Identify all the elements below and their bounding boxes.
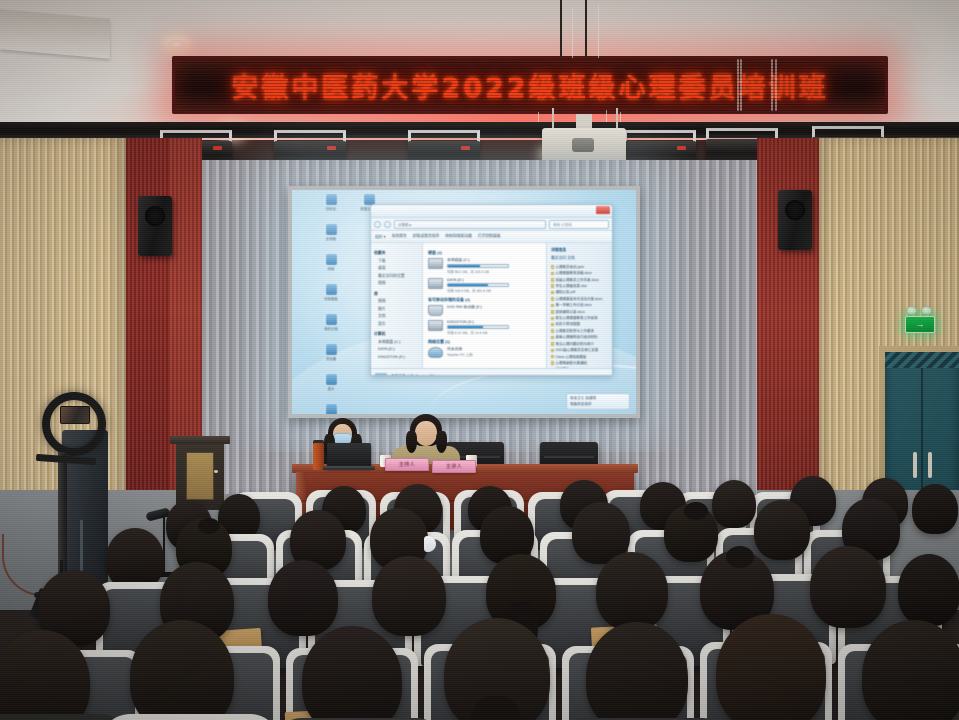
desktop-icon-column: 回收站 此电脑 网络 控制面板 我的文档	[296, 194, 366, 414]
pictures-icon	[326, 404, 337, 414]
name-placard-left-text: 主持人	[399, 461, 415, 468]
nav-item[interactable]: 文档	[374, 313, 420, 321]
audience-head	[106, 528, 164, 590]
toolbar-system-properties[interactable]: 系统属性	[392, 234, 407, 239]
audience-head	[716, 614, 826, 720]
presenter-right-face	[415, 421, 437, 446]
nav-item[interactable]: 视频	[374, 298, 420, 306]
toolbar-control-panel[interactable]: 打开控制面板	[478, 234, 501, 239]
music-icon	[326, 374, 337, 385]
desktop-widget[interactable]: 安全卫士 加速球 电脑状态良好	[566, 393, 630, 410]
explorer-body: 收藏夹 下载 桌面 最近访问的位置 视频 库 视频 图片 文档 音乐 计算机 本…	[371, 243, 612, 368]
ceiling-hang-wire	[598, 4, 599, 58]
audience-shoulders	[100, 714, 280, 720]
projector-lens	[572, 138, 594, 152]
audience-head	[268, 560, 338, 636]
drive-host: Teacher-PC 上的	[447, 352, 542, 357]
toolbar-map-drive[interactable]: 映射网络驱动器	[445, 234, 472, 239]
audience-head	[372, 556, 446, 636]
hair-bun	[726, 546, 754, 568]
toolbar-uninstall[interactable]: 卸载或更改程序	[413, 234, 440, 239]
projector-mount-rod	[616, 108, 618, 130]
desktop-icon[interactable]: 图片	[296, 404, 366, 414]
capacity-bar	[447, 264, 509, 268]
network-icon	[326, 254, 337, 265]
window-title-bar[interactable]	[371, 205, 612, 218]
ring-light	[42, 392, 106, 456]
led-banner: 安徽中医药大学2022级班级心理委员培训班	[172, 56, 888, 114]
capacity-bar	[447, 283, 509, 287]
wall-speaker-right	[778, 190, 812, 250]
exit-arrow-icon: →	[916, 320, 925, 329]
projector-mount-rod	[552, 108, 554, 130]
capacity-bar	[447, 325, 509, 329]
desktop-icon[interactable]: 我的文档	[296, 314, 366, 343]
projection-screen: 回收站 此电脑 网络 控制面板 我的文档	[292, 190, 636, 414]
nav-item[interactable]: 图片	[374, 306, 420, 314]
presenter-right-hair-strand	[436, 431, 447, 453]
presenter-right-hair-strand	[406, 431, 417, 453]
lecture-hall-photo: 安徽中医药大学2022级班级心理委员培训班	[0, 0, 959, 720]
nav-item[interactable]: 桌面	[374, 265, 420, 273]
nav-group-libraries[interactable]: 库	[374, 291, 420, 299]
control-panel-icon	[326, 284, 337, 295]
nav-item[interactable]: 下载	[374, 258, 420, 266]
drive-item[interactable]: 共享资源 Teacher-PC 上的	[428, 347, 542, 358]
drive-capacity: 可用 118.4 GB，共 351.6 GB	[447, 288, 542, 293]
group-header-removable[interactable]: 有可移动存储的设备 (2)	[428, 297, 542, 303]
status-line-1: 共享资源 上级: Teacher-PC	[391, 374, 435, 377]
network-share-icon	[428, 347, 443, 358]
drive-item[interactable]: DATA (D:) 可用 118.4 GB，共 351.6 GB	[428, 278, 542, 293]
details-pane: 详细信息 最近访问 文档 心理委员培训.pptx 心理健康教育讲稿.docx 班…	[546, 243, 612, 368]
ceiling-projector	[542, 128, 626, 164]
audience-head	[130, 620, 234, 720]
forward-icon[interactable]	[384, 221, 391, 228]
name-placard-right-text: 主讲人	[446, 463, 462, 470]
browser-icon	[326, 344, 337, 355]
exit-sign: →	[905, 316, 935, 333]
optical-drive-icon	[428, 305, 443, 316]
ceiling-hang-wire	[572, 8, 573, 58]
drive-name: 本地磁盘 (C:)	[447, 258, 542, 263]
nav-item[interactable]: 视频	[374, 280, 420, 288]
details-pane-header: 详细信息	[551, 247, 609, 253]
ceiling-hang-wire	[585, 0, 587, 58]
close-icon[interactable]	[596, 206, 610, 214]
banner-hanging-cables	[731, 59, 801, 114]
nav-item[interactable]: 本地磁盘 (C:)	[374, 339, 420, 347]
status-bar: 共享资源 上级: Teacher-PC 网络位置: Teacher-PC 共享	[371, 368, 612, 376]
recent-file[interactable]: 活动照片	[551, 366, 609, 368]
audience-head	[596, 552, 668, 630]
nav-group-favorites[interactable]: 收藏夹	[374, 250, 420, 258]
desktop-icon[interactable]: 此电脑	[296, 224, 366, 253]
drive-item[interactable]: 本地磁盘 (C:) 可用 56.2 GB，共 119.2 GB	[428, 258, 542, 274]
documents-icon	[326, 314, 337, 325]
group-header-harddisks[interactable]: 硬盘 (2)	[428, 250, 542, 256]
drive-item[interactable]: KINGSTON (K:) 可用 6.12 GB，共 14.4 GB	[428, 320, 542, 335]
nav-item[interactable]: 最近访问的位置	[374, 273, 420, 281]
emergency-lamp	[906, 306, 917, 315]
recycle-bin-icon	[326, 194, 337, 205]
desktop-icon[interactable]: 浏览器	[296, 344, 366, 373]
file-explorer-window[interactable]: 计算机 ▸ 搜索 计算机 组织 ▾ 系统属性 卸载或更改程序 映射网络驱动器 打…	[370, 204, 613, 376]
drive-item[interactable]: DVD RW 驱动器 (E:)	[428, 305, 542, 316]
audience-head	[712, 480, 756, 528]
wall-speaker-left	[138, 196, 172, 256]
hair-bun	[684, 502, 708, 520]
drive-capacity: 可用 56.2 GB，共 119.2 GB	[447, 269, 542, 274]
desktop-icon[interactable]: 音乐	[296, 374, 366, 403]
nav-item[interactable]: 音乐	[374, 321, 420, 329]
address-input[interactable]: 计算机 ▸	[394, 220, 546, 229]
address-bar-row: 计算机 ▸ 搜索 计算机	[371, 218, 612, 231]
hair-bun	[198, 518, 220, 534]
projection-screen-frame: 回收站 此电脑 网络 控制面板 我的文档	[288, 186, 640, 418]
lectern-top	[170, 436, 230, 444]
desktop-icon[interactable]: 控制面板	[296, 284, 366, 313]
explorer-toolbar: 组织 ▾ 系统属性 卸载或更改程序 映射网络驱动器 打开控制面板	[371, 231, 612, 243]
file-list-pane: 硬盘 (2) 本地磁盘 (C:) 可用 56.2 GB，共 119.2 GB	[423, 243, 546, 368]
mounted-phone[interactable]	[60, 406, 90, 424]
ceiling-light	[169, 40, 185, 49]
hard-drive-icon	[428, 278, 443, 289]
door-transom-grill	[885, 352, 959, 368]
laptop-screen	[327, 443, 371, 468]
audience-head	[810, 546, 886, 628]
toolbar-organize[interactable]: 组织 ▾	[375, 234, 386, 240]
audience-head	[898, 554, 959, 626]
group-header-network[interactable]: 网络位置 (1)	[428, 339, 542, 345]
drive-name: DATA (D:)	[447, 278, 542, 282]
navigation-pane: 收藏夹 下载 桌面 最近访问的位置 视频 库 视频 图片 文档 音乐 计算机 本…	[371, 243, 423, 368]
audience-head	[754, 500, 810, 560]
usb-drive-icon	[428, 320, 443, 331]
desktop-icon[interactable]: 网络	[296, 254, 366, 283]
nav-item[interactable]: KINGSTON (K:)	[374, 354, 420, 362]
audience-head	[912, 484, 958, 534]
search-input[interactable]: 搜索 计算机	[549, 220, 609, 229]
emergency-lamp	[921, 306, 932, 315]
computer-icon	[326, 224, 337, 235]
nav-item[interactable]: DATA (D:)	[374, 346, 420, 354]
drive-capacity: 可用 6.12 GB，共 14.4 GB	[447, 330, 542, 335]
nav-group-computer[interactable]: 计算机	[374, 331, 420, 339]
widget-line-2: 电脑状态良好	[570, 402, 626, 408]
back-icon[interactable]	[374, 221, 381, 228]
status-item-icon	[375, 373, 387, 376]
audience-area	[0, 470, 959, 720]
drive-name: KINGSTON (K:)	[447, 320, 542, 324]
ceiling-hang-wire	[560, 0, 562, 58]
hard-drive-icon	[428, 258, 443, 269]
drive-name: DVD RW 驱动器 (E:)	[447, 305, 542, 310]
details-pane-subheader: 最近访问 文档	[551, 255, 609, 261]
